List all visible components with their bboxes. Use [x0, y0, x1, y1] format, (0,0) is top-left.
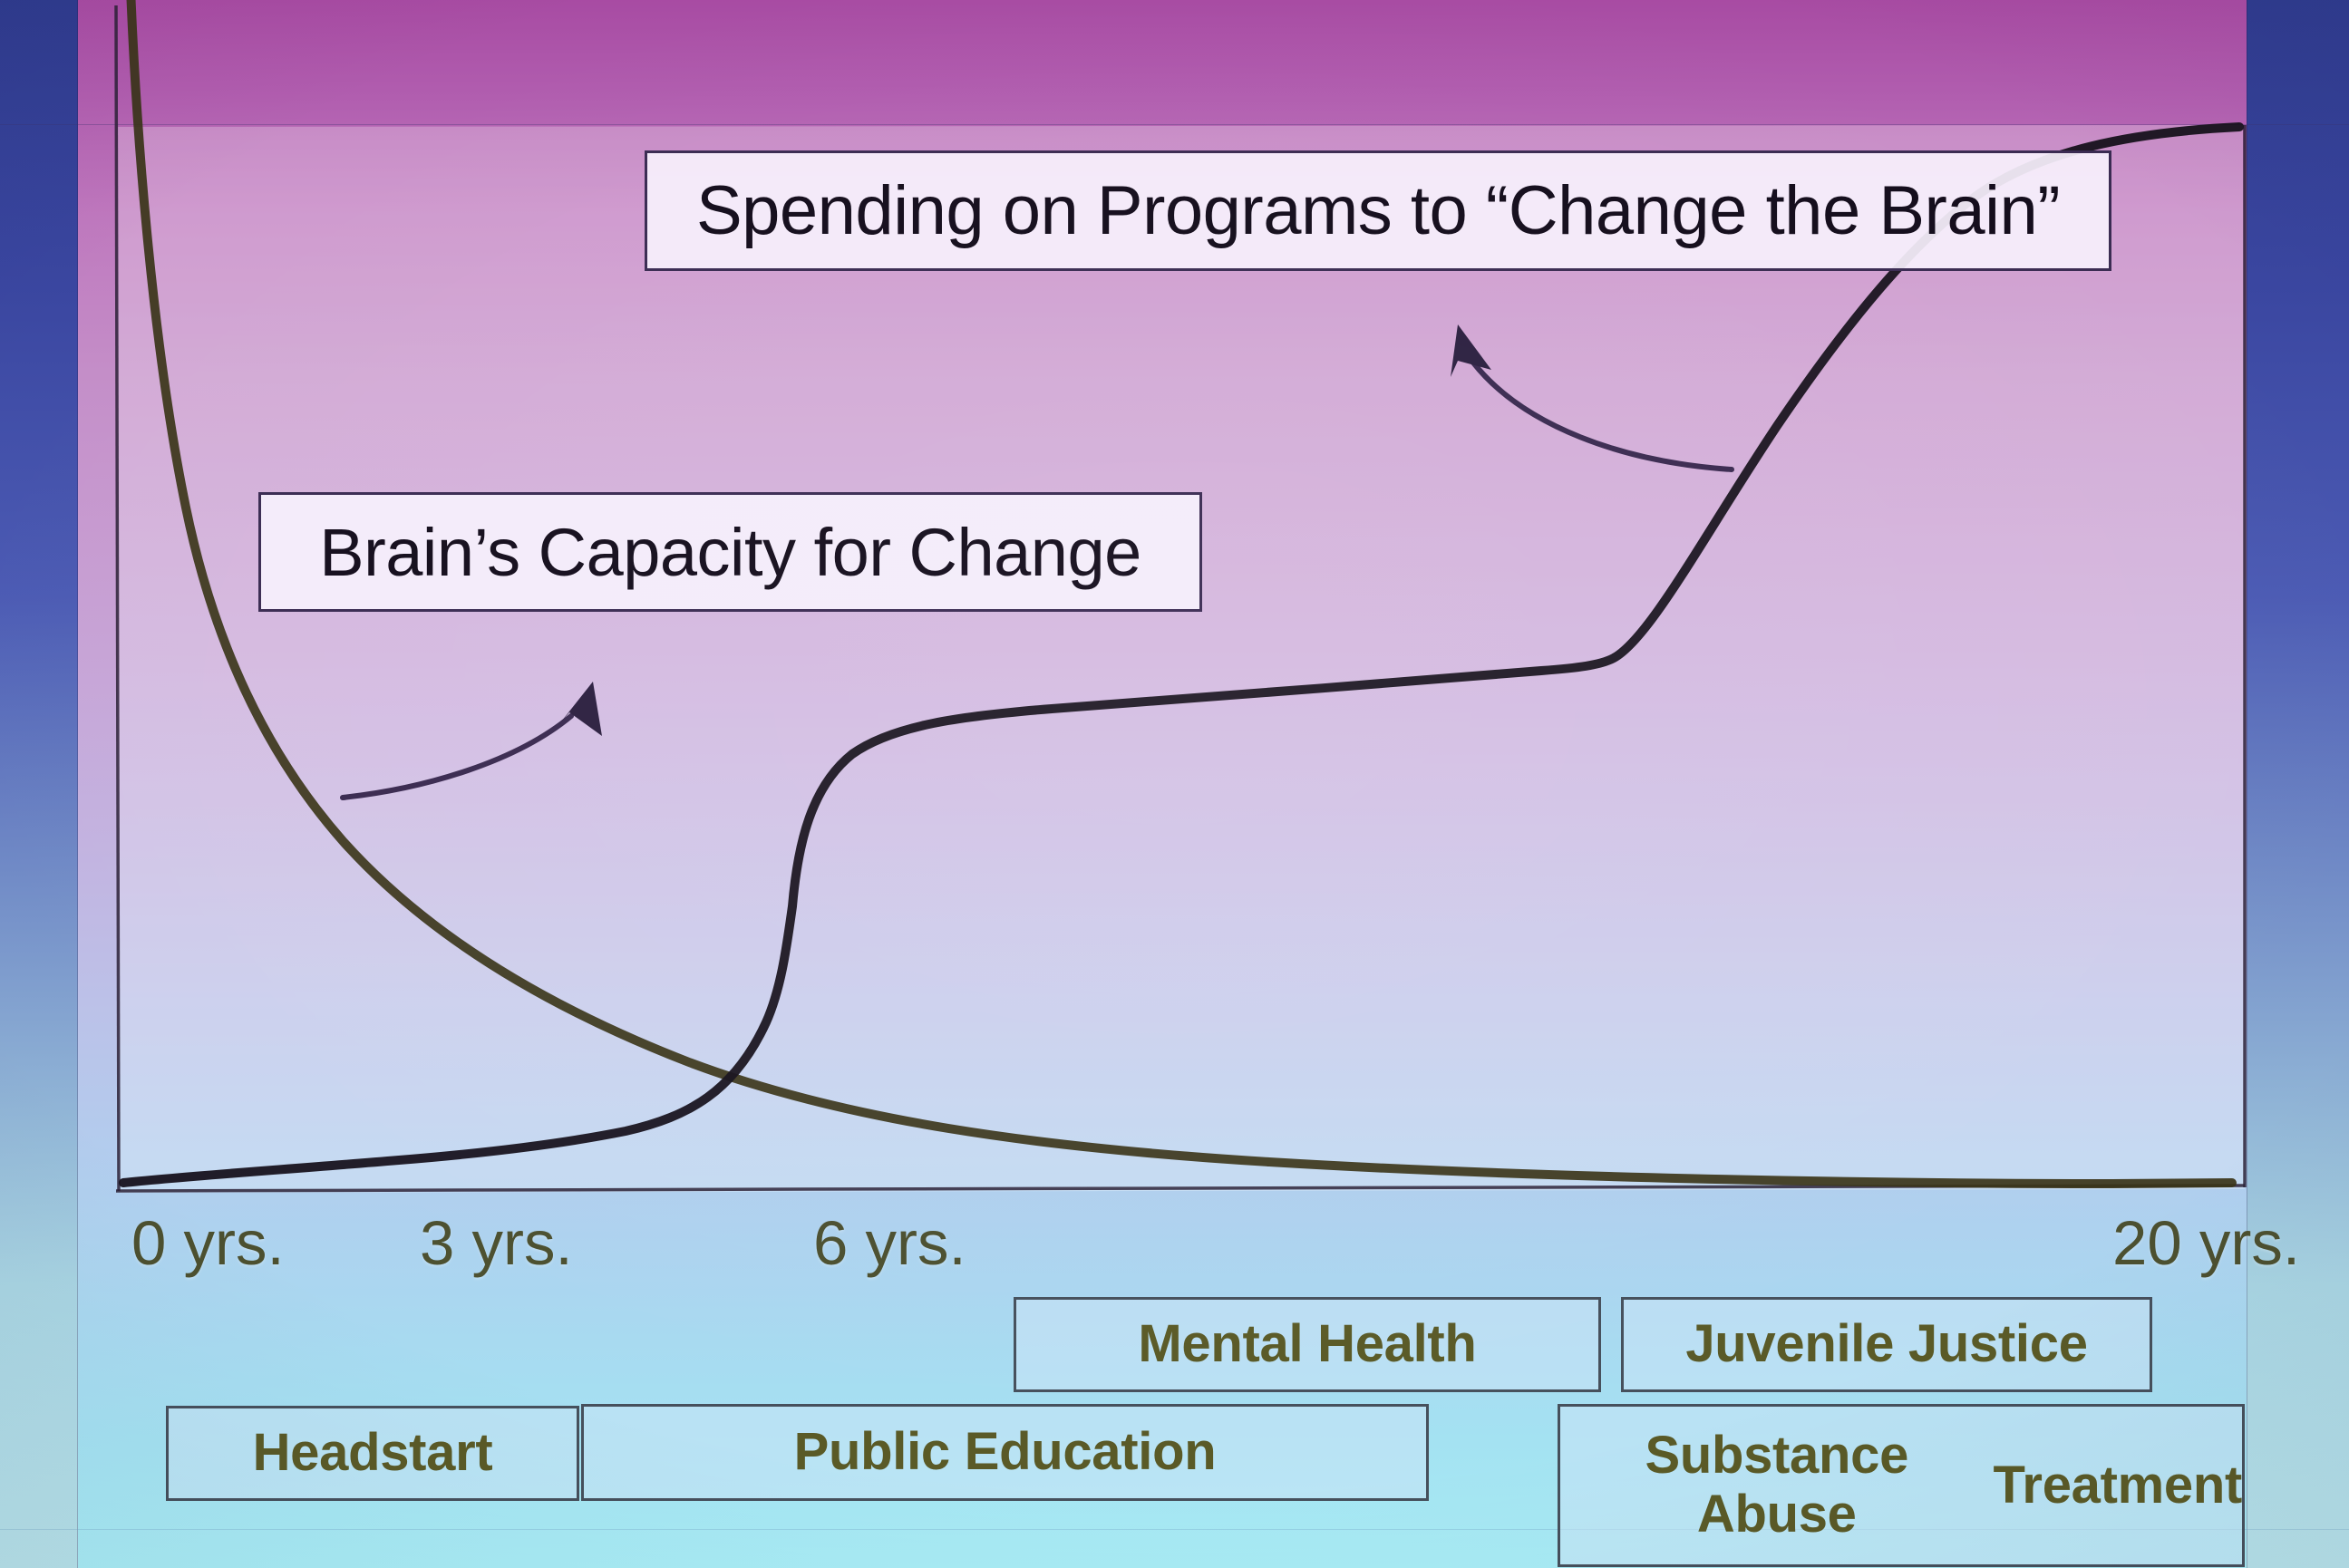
legend-box-substance-abuse-treatment: Substance AbuseTreatment	[1558, 1404, 2245, 1567]
legend-box-mental-health: Mental Health	[1014, 1297, 1601, 1392]
legend-line: Substance Abuse	[1560, 1427, 1994, 1544]
callout-spending-on-programs: Spending on Programs to “Change the Brai…	[645, 150, 2111, 271]
x-tick-label-3yrs: 3 yrs.	[420, 1207, 573, 1279]
x-tick-label-20yrs: 20 yrs.	[2112, 1207, 2300, 1279]
legend-line: Treatment	[1994, 1457, 2243, 1515]
legend-box-headstart: Headstart	[166, 1406, 579, 1501]
slide-photo: Spending on Programs to “Change the Brai…	[0, 0, 2349, 1568]
x-tick-label-6yrs: 6 yrs.	[813, 1207, 966, 1279]
callout-brains-capacity: Brain’s Capacity for Change	[258, 492, 1202, 612]
legend-box-public-education: Public Education	[581, 1404, 1429, 1501]
legend-box-juvenile-justice: Juvenile Justice	[1621, 1297, 2152, 1392]
x-tick-label-0yrs: 0 yrs.	[131, 1207, 285, 1279]
plot-background	[118, 125, 2245, 1193]
